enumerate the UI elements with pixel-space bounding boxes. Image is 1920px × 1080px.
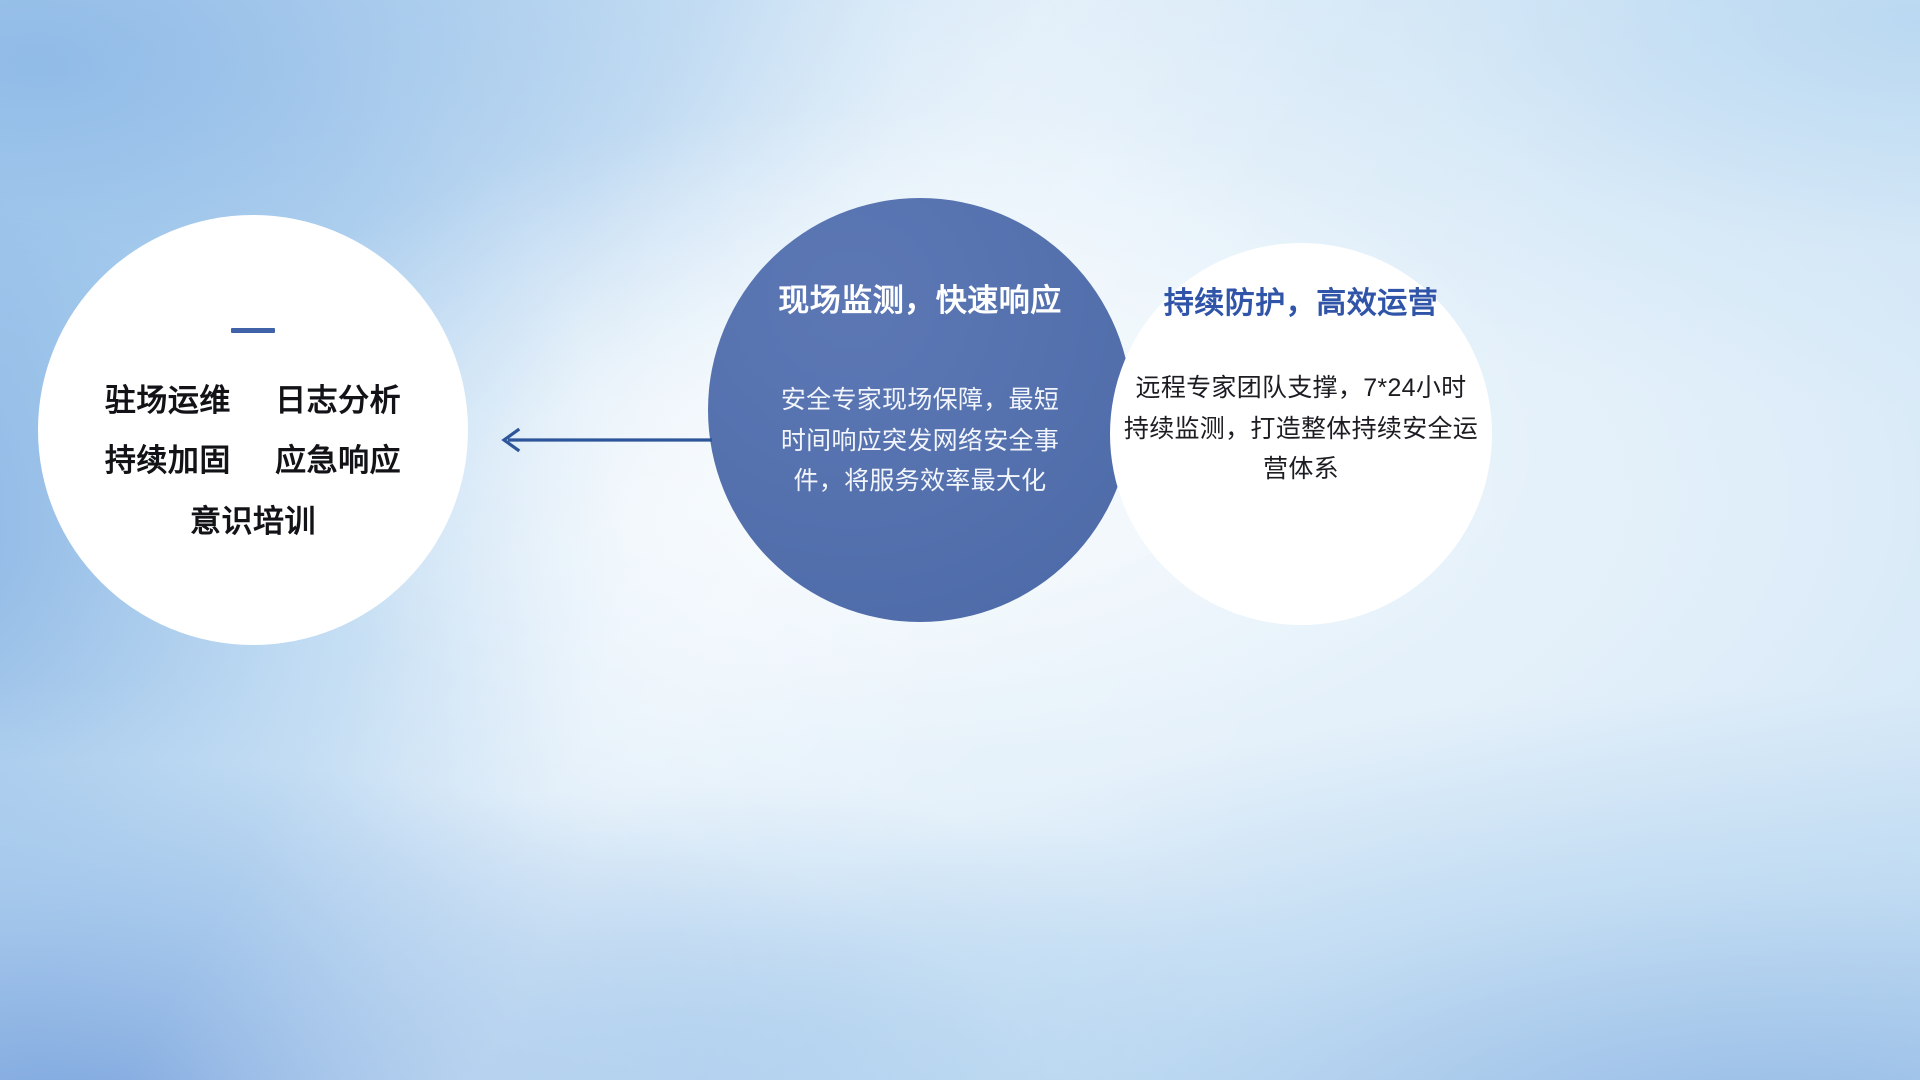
middle-circle-title: 现场监测，快速响应 — [778, 284, 1062, 318]
right-circle-body: 远程专家团队支撑，7*24小时持续监测，打造整体持续安全运营体系 — [1123, 368, 1479, 490]
slide-canvas: 驻场运维 日志分析 持续加固 应急响应 意识培训 现场监测，快速响应 安全专家现… — [0, 0, 1920, 1080]
right-circle-title: 持续防护，高效运营 — [1164, 287, 1439, 320]
capability-row: 意识培训 — [190, 506, 316, 539]
capability-label: 日志分析 — [275, 383, 401, 418]
capability-label: 应急响应 — [275, 443, 401, 478]
capability-label: 驻场运维 — [105, 383, 231, 418]
capability-row: 驻场运维 日志分析 — [105, 385, 401, 418]
left-circle-content: 驻场运维 日志分析 持续加固 应急响应 意识培训 — [38, 215, 468, 645]
right-circle-content: 持续防护，高效运营 远程专家团队支撑，7*24小时持续监测，打造整体持续安全运营… — [1110, 243, 1492, 625]
capability-label: 意识培训 — [190, 504, 316, 539]
capability-row: 持续加固 应急响应 — [105, 445, 401, 478]
middle-circle-content: 现场监测，快速响应 安全专家现场保障，最短时间响应突发网络安全事件，将服务效率最… — [708, 198, 1132, 622]
capability-label: 持续加固 — [105, 443, 231, 478]
horizontal-dash-icon — [231, 328, 275, 333]
middle-circle-body: 安全专家现场保障，最短时间响应突发网络安全事件，将服务效率最大化 — [776, 380, 1064, 502]
arrow-left-icon — [492, 418, 714, 462]
